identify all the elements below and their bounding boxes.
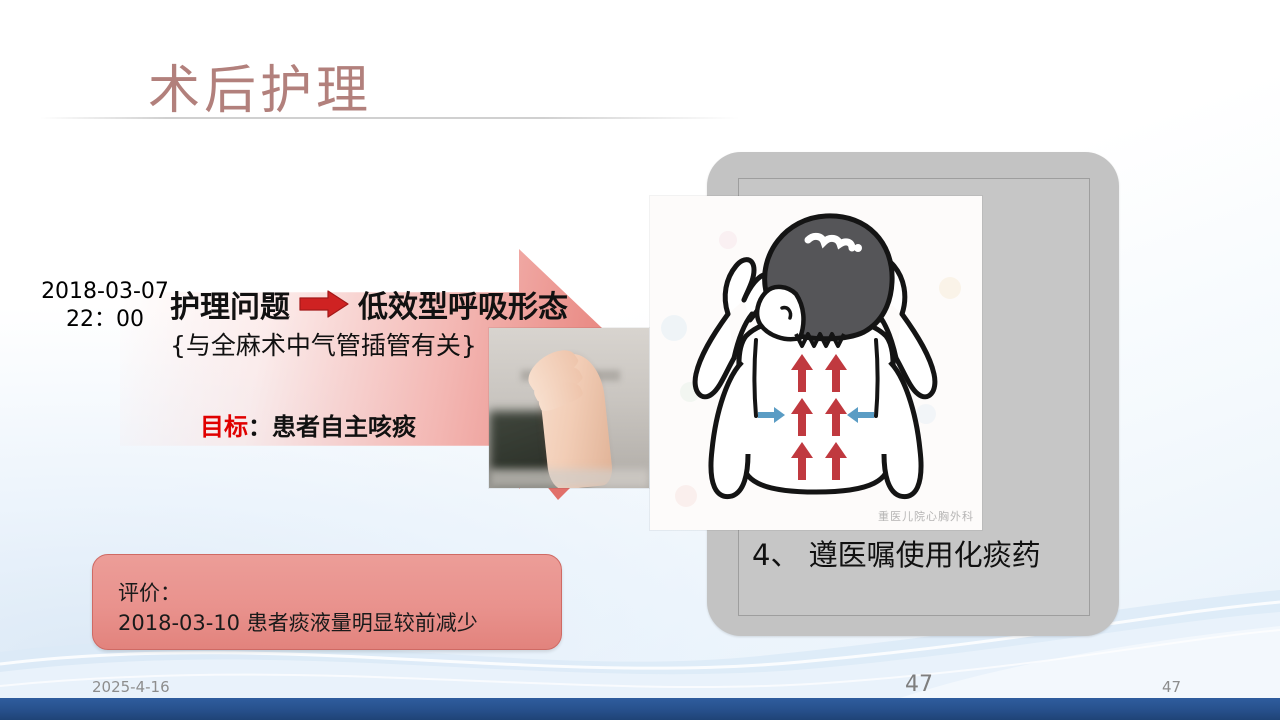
back-patting-illustration: 重医儿院心胸外科 [650, 196, 982, 530]
nursing-problem-note: {与全麻术中气管插管有关} [170, 326, 477, 362]
goal-separator: ： [248, 413, 272, 441]
cupped-hand-photo [489, 328, 649, 488]
title-divider [40, 117, 740, 119]
illustration-watermark: 重医儿院心胸外科 [878, 508, 974, 524]
goal-value: 患者自主咳痰 [272, 413, 416, 441]
measures-item-4: 4、 遵医嘱使用化痰药 [752, 532, 1041, 574]
nursing-problem-line: 护理问题 低效型呼吸形态 [170, 282, 568, 326]
page-title: 术后护理 [148, 48, 372, 123]
nursing-problem-label: 护理问题 [170, 282, 290, 326]
page-number-right: 47 [1162, 678, 1181, 696]
slide-canvas: 术后护理 2018-03-07 22：00 护理问题 低效型呼吸形态 {与全麻术… [0, 0, 1280, 720]
timestamp-date: 2018-03-07 [40, 278, 170, 306]
evaluation-text: 评价： 2018-03-10 患者痰液量明显较前减少 [118, 578, 478, 638]
page-number-center: 47 [905, 672, 933, 697]
nursing-problem-value: 低效型呼吸形态 [358, 282, 568, 326]
illustration-drawing [650, 196, 982, 530]
timestamp-time: 22：00 [40, 306, 170, 334]
nursing-goal-line: 目标：患者自主咳痰 [200, 407, 416, 442]
right-arrow-icon [298, 289, 350, 319]
goal-label: 目标 [200, 413, 248, 441]
record-timestamp: 2018-03-07 22：00 [40, 278, 170, 334]
photo-foreground-blur [489, 469, 649, 488]
footer-date: 2025-4-16 [92, 678, 170, 696]
bottom-accent-bar [0, 698, 1280, 720]
